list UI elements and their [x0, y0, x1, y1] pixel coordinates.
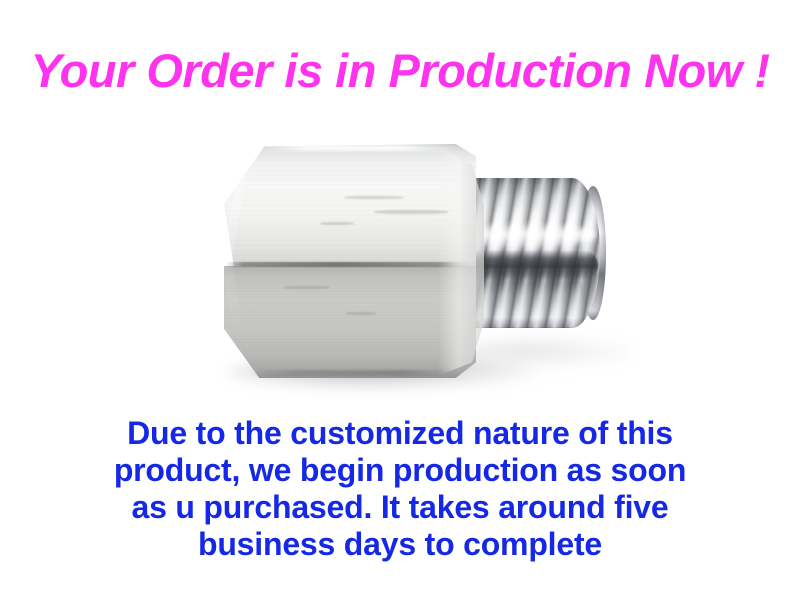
copy-line: Due to the customized nature of this	[0, 415, 800, 452]
hex-surface-scuff	[346, 312, 376, 315]
product-image	[190, 118, 630, 403]
copy-line: as u purchased. It takes around five	[0, 489, 800, 526]
hex-top-rim-highlight	[254, 145, 462, 151]
thread-shadow	[452, 340, 632, 366]
promotional-banner: Your Order is in Production Now !	[0, 0, 800, 600]
copy-line: product, we begin production as soon	[0, 452, 800, 489]
hex-surface-scuff	[320, 222, 354, 225]
copy-line: business days to complete	[0, 526, 800, 563]
hex-surface-scuff	[374, 210, 448, 214]
hex-surface-scuff	[344, 196, 404, 199]
hex-face-edge	[226, 262, 474, 267]
hex-body	[224, 144, 476, 376]
hex-surface-scuff	[284, 286, 330, 289]
hex-bottom-rim-shade	[250, 370, 462, 376]
promo-description: Due to the customized nature of this pro…	[0, 415, 800, 563]
page-title: Your Order is in Production Now !	[0, 46, 800, 95]
